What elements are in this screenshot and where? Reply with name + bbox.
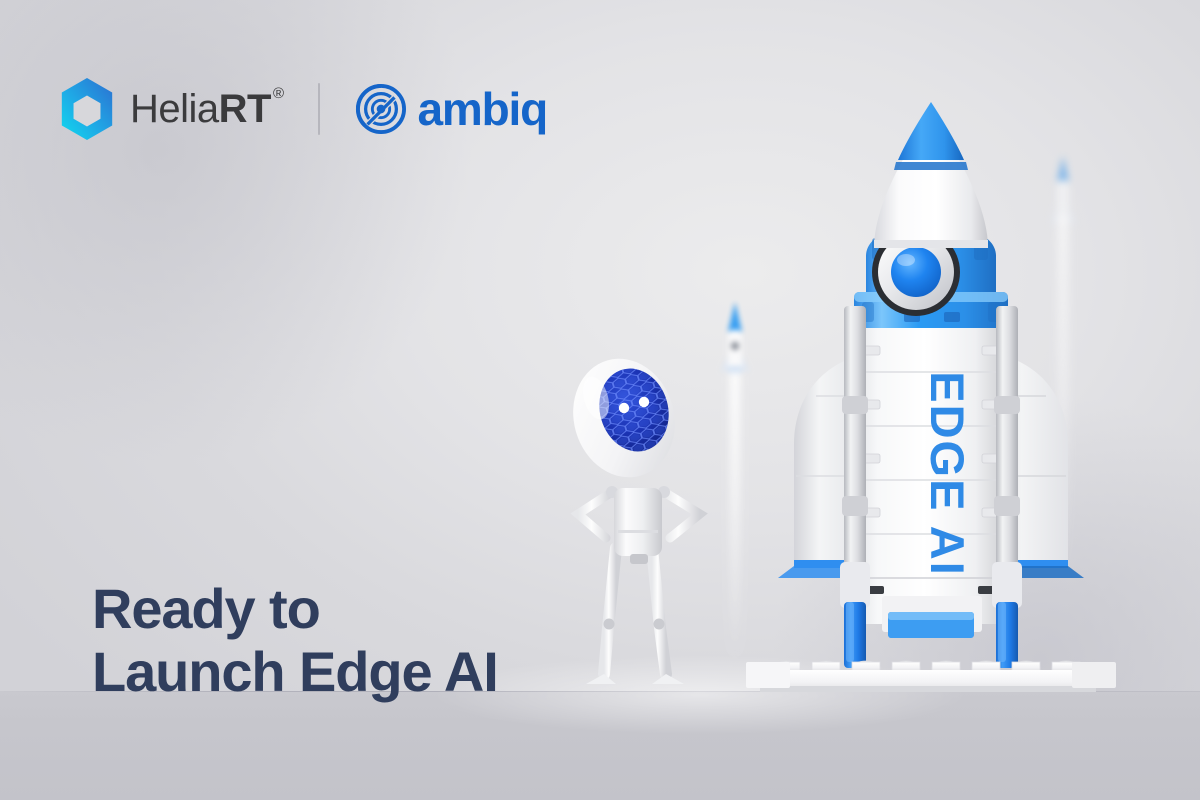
edge-ai-robot-mascot — [556, 352, 726, 692]
heliart-wordmark: HeliaRT® — [130, 89, 282, 129]
rocket-edge-ai-label: EDGE AI — [921, 371, 974, 577]
rocket-engine-skirt — [882, 596, 982, 638]
robot-head — [559, 347, 688, 490]
ambiq-logo[interactable]: ambiq — [356, 84, 547, 134]
robot-eye-left — [619, 403, 629, 413]
floor-surface — [0, 691, 1200, 800]
robot-eye-right — [639, 397, 649, 407]
robot-torso — [614, 488, 662, 564]
heliart-word-light: Helia — [130, 89, 219, 129]
heliart-hexagon-logo-icon — [56, 76, 118, 142]
ambiq-wordmark: ambiq — [418, 86, 547, 132]
heliart-word-bold: RT — [219, 89, 271, 129]
hero-stage: EDGE AI — [0, 0, 1200, 800]
logo-divider — [318, 83, 320, 135]
rocket-landing-leg-left — [840, 306, 870, 668]
rocket-illustration: EDGE AI — [716, 96, 1146, 706]
backdrop-vignette-top-left — [0, 0, 480, 460]
rocket-body: EDGE AI — [852, 324, 1010, 624]
robot-legs — [586, 548, 684, 684]
robot-illustration — [556, 352, 726, 692]
page-headline: Ready to Launch Edge AI — [92, 578, 498, 703]
rocket-landing-leg-right — [992, 306, 1022, 668]
registered-trademark-icon: ® — [273, 86, 284, 101]
rocket-baseplate — [746, 661, 1116, 692]
logo-bar: HeliaRT® ambiq — [56, 78, 547, 140]
edge-ai-rocket: EDGE AI — [716, 96, 1146, 706]
ambiq-spiral-logo-icon — [356, 84, 406, 134]
rocket-nose-cone — [874, 102, 988, 248]
heliart-logo[interactable]: HeliaRT® — [56, 76, 282, 142]
